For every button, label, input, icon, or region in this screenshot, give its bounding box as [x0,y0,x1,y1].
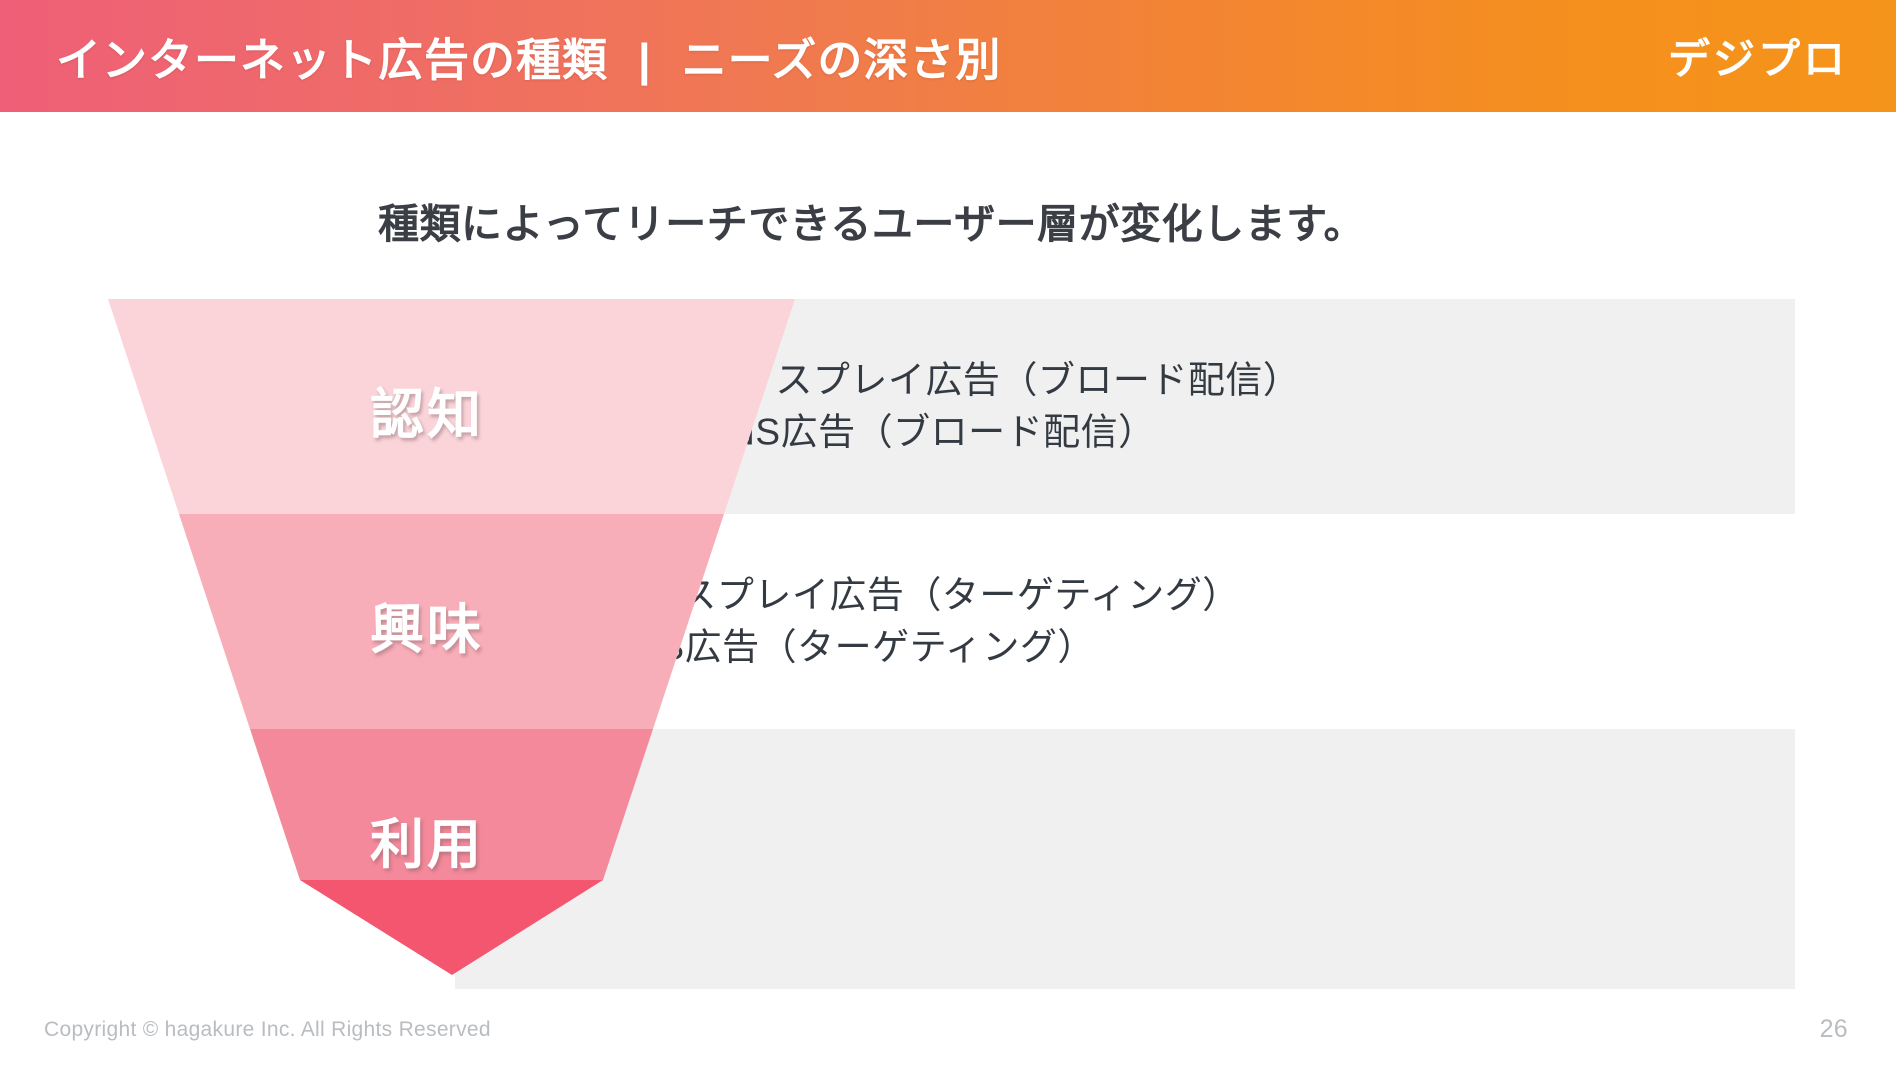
brand-logo: デジプロ [1668,26,1848,87]
page-number: 26 [1820,1015,1848,1044]
page-title-sub: ニーズの深さ別 [682,35,1002,86]
funnel-stage-label-awareness: 認知 [370,370,484,449]
title-separator: | [608,35,682,87]
slide-subtitle: 種類によってリーチできるユーザー層が変化します。 [378,190,1365,250]
funnel-row-interest: ディスプレイ広告（ターゲティング） SNS広告（ターゲティング） [455,514,1795,729]
page-title: インターネット広告の種類|ニーズの深さ別 [56,24,1001,89]
copyright-notice: Copyright © hagakure Inc. All Rights Res… [44,1018,491,1042]
funnel-stage-label-interest: 興味 [370,585,484,664]
funnel-stage-label-usage: 利用 [370,800,484,879]
funnel-row-text: ディスプレイ広告（ターゲティング） SNS広告（ターゲティング） [607,569,1240,674]
slide-header-bar: インターネット広告の種類|ニーズの深さ別 デジプロ [0,0,1896,112]
funnel-description-rows: ディスプレイ広告（ブロード配信） SNS広告（ブロード配信） ディスプレイ広告（… [455,299,1795,989]
page-title-main: インターネット広告の種類 [56,35,608,86]
funnel-row-text: ディスプレイ広告（ブロード配信） SNS広告（ブロード配信） [703,354,1300,459]
funnel-row-usage [455,729,1795,989]
funnel-row-awareness: ディスプレイ広告（ブロード配信） SNS広告（ブロード配信） [455,299,1795,514]
